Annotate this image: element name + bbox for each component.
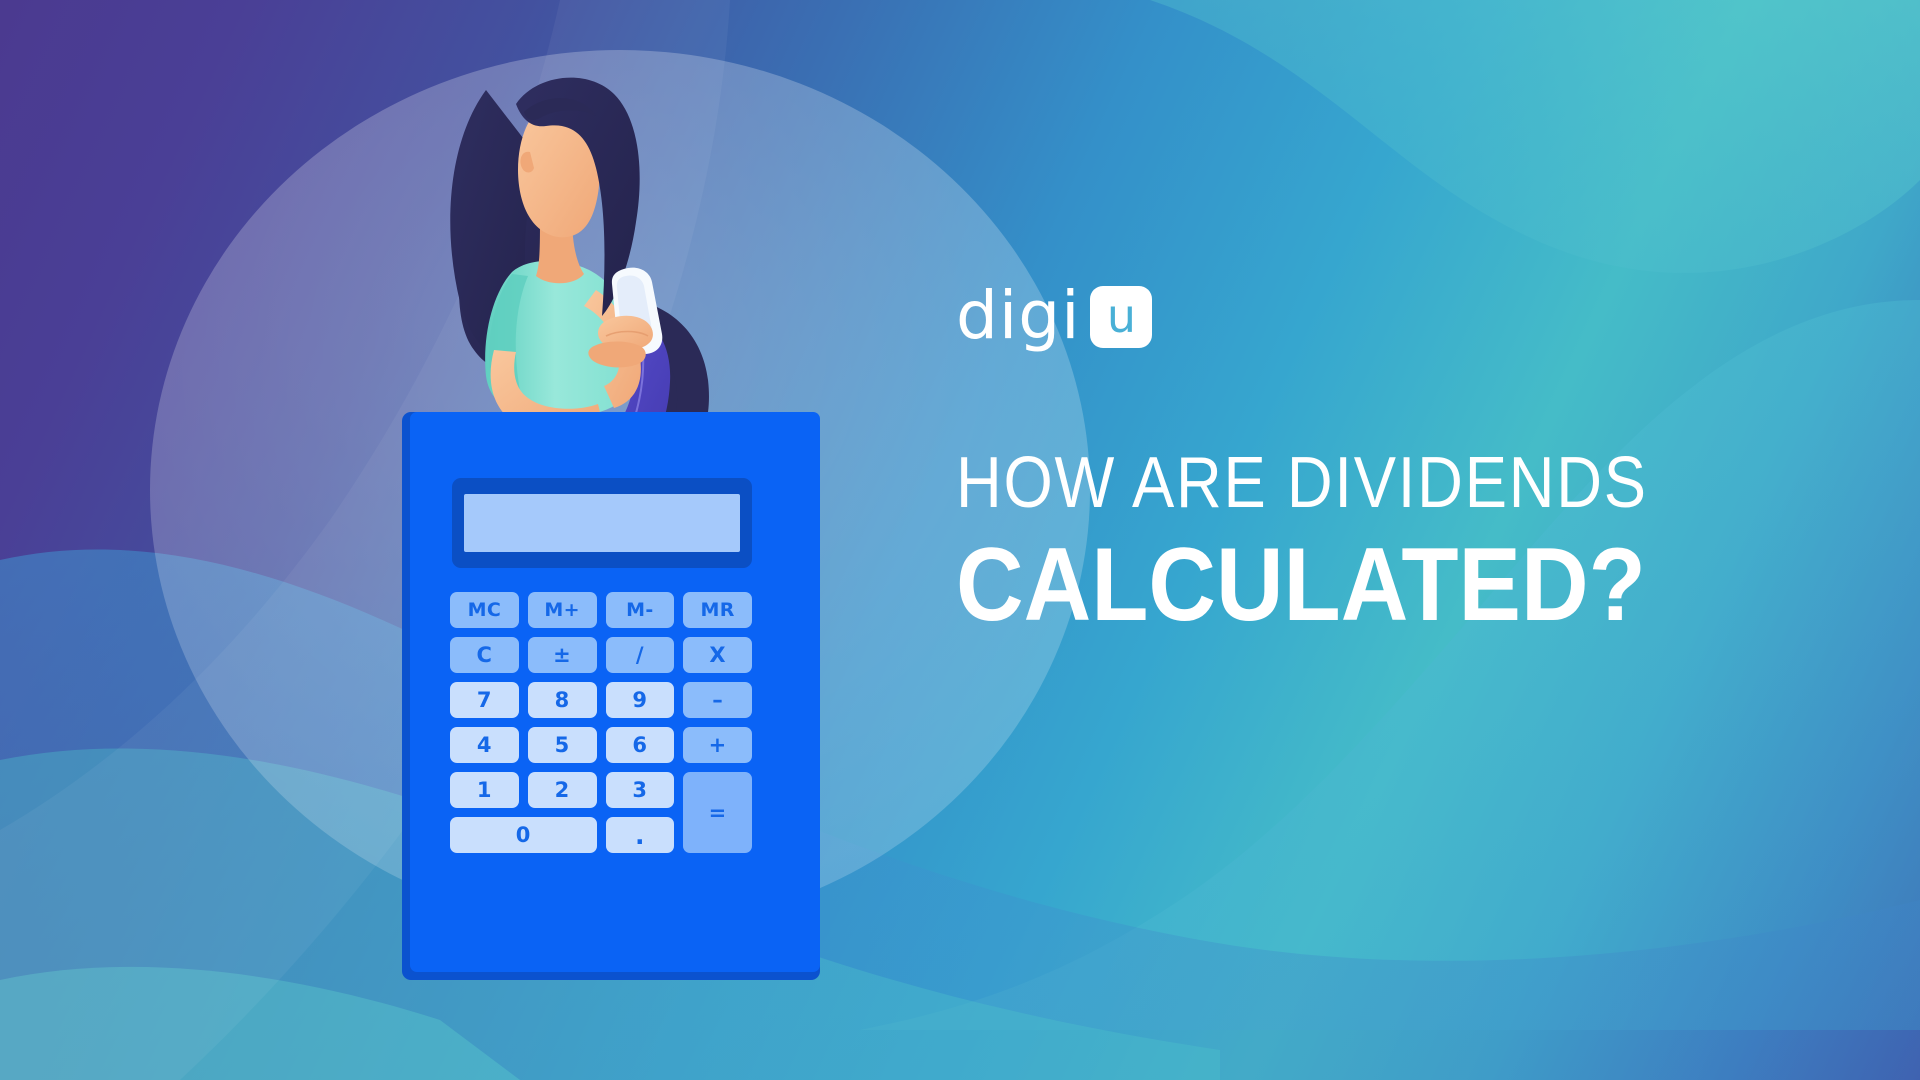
key-1[interactable]: 1 <box>450 772 519 808</box>
logo-badge: u <box>1090 286 1152 348</box>
key-memory-recall[interactable]: MR <box>683 592 752 628</box>
calculator: MCM+M-MRC±/X789–456+123=0. <box>402 412 820 980</box>
key-4[interactable]: 4 <box>450 727 519 763</box>
calculator-display-screen <box>464 494 740 552</box>
key-memory-subtract[interactable]: M- <box>606 592 675 628</box>
headline-line-2: CALCULATED? <box>956 533 1730 637</box>
logo-badge-letter: u <box>1107 293 1136 339</box>
key-clear[interactable]: C <box>450 637 519 673</box>
key-9[interactable]: 9 <box>606 682 675 718</box>
calculator-body: MCM+M-MRC±/X789–456+123=0. <box>410 412 820 972</box>
calculator-display-bezel <box>452 478 752 568</box>
key-decimal[interactable]: . <box>606 817 675 853</box>
key-2[interactable]: 2 <box>528 772 597 808</box>
key-8[interactable]: 8 <box>528 682 597 718</box>
key-minus[interactable]: – <box>683 682 752 718</box>
logo-wordmark: digi <box>956 283 1080 349</box>
brand-logo[interactable]: digi u <box>956 283 1152 349</box>
key-equals[interactable]: = <box>683 772 752 853</box>
calculator-keypad[interactable]: MCM+M-MRC±/X789–456+123=0. <box>450 592 752 853</box>
key-memory-add[interactable]: M+ <box>528 592 597 628</box>
key-0[interactable]: 0 <box>450 817 597 853</box>
key-memory-clear[interactable]: MC <box>450 592 519 628</box>
headline-line-1: HOW ARE DIVIDENDS <box>956 447 1713 519</box>
key-5[interactable]: 5 <box>528 727 597 763</box>
key-plus-minus[interactable]: ± <box>528 637 597 673</box>
bg-shape-top-right <box>1150 0 1920 273</box>
key-plus[interactable]: + <box>683 727 752 763</box>
headline-block: HOW ARE DIVIDENDS CALCULATED? <box>956 447 1816 637</box>
key-3[interactable]: 3 <box>606 772 675 808</box>
poster-canvas: MCM+M-MRC±/X789–456+123=0. digi u HOW AR… <box>0 0 1920 1080</box>
key-7[interactable]: 7 <box>450 682 519 718</box>
key-multiply[interactable]: X <box>683 637 752 673</box>
key-divide[interactable]: / <box>606 637 675 673</box>
key-6[interactable]: 6 <box>606 727 675 763</box>
